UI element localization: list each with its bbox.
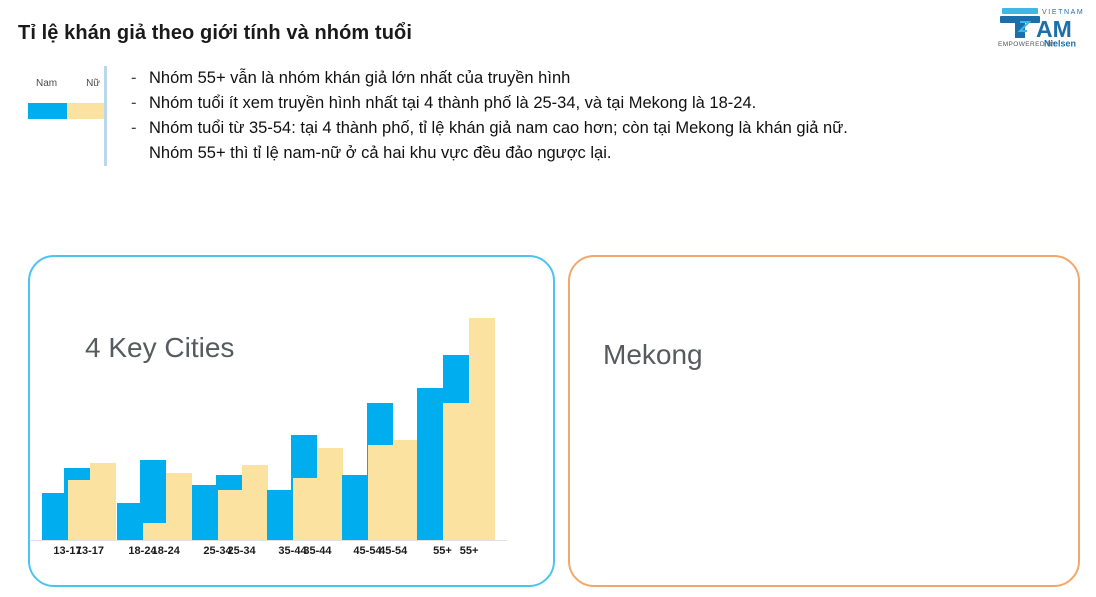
- bar-18-24-male: [117, 503, 143, 541]
- list-item: - Nhóm tuổi từ 35-54: tại 4 thành phố, t…: [107, 116, 1067, 141]
- bar-55+-female: [443, 403, 469, 541]
- bar-group-55+: [405, 290, 480, 540]
- x-tick-13-17: 13-17: [30, 545, 105, 557]
- page-title: Tỉ lệ khán giả theo giới tính và nhóm tu…: [18, 22, 412, 45]
- bullet-dash: -: [131, 91, 149, 116]
- bullet-text: Nhóm tuổi từ 35-54: tại 4 thành phố, tỉ …: [149, 116, 1067, 141]
- bar-13-17-male: [42, 493, 68, 541]
- chart-title-mekong: Mekong: [603, 339, 703, 371]
- bullet-text: Nhóm tuổi ít xem truyền hình nhất tại 4 …: [149, 91, 1067, 116]
- bar-group-35-44: [255, 290, 330, 540]
- svg-text:VIETNAM: VIETNAM: [1042, 9, 1084, 16]
- bar-35-44-female: [293, 478, 319, 541]
- bar-18-24-female: [143, 523, 169, 541]
- bar-45-54-male: [342, 475, 368, 540]
- bar-45-54-female: [368, 445, 394, 540]
- bar-35-44-male: [267, 490, 293, 540]
- bar-13-17-female: [68, 480, 94, 540]
- bullet-dash: -: [131, 116, 149, 141]
- bar-group-18-24: [105, 290, 180, 540]
- x-tick-18-24: 18-24: [105, 545, 180, 557]
- bar-group-45-54: [330, 290, 405, 540]
- insight-bullet-list: - Nhóm 55+ vẫn là nhóm khán giả lớn nhất…: [104, 66, 1067, 166]
- svg-text:Nielsen: Nielsen: [1044, 39, 1076, 49]
- x-tick-45-54: 45-54: [330, 545, 405, 557]
- x-tick-55+: 55+: [405, 545, 480, 557]
- bar-group-25-34: [180, 290, 255, 540]
- x-tick-25-34: 25-34: [180, 545, 255, 557]
- bar-group-13-17: [30, 290, 105, 540]
- list-item: - Nhóm 55+ vẫn là nhóm khán giả lớn nhất…: [107, 66, 1067, 91]
- vietnam-tam-logo: VIETNAM AM EMPOWERED BY Nielsen: [996, 4, 1088, 50]
- legend-swatch-male: [28, 103, 67, 119]
- bar-25-34-male: [192, 485, 218, 540]
- gender-legend: Nam Nữ: [28, 78, 106, 119]
- x-axis-mekong: 13-1718-2425-3435-4445-5455+: [30, 545, 480, 557]
- bullet-text: Nhóm 55+ vẫn là nhóm khán giả lớn nhất c…: [149, 66, 1067, 91]
- bullet-continuation-text: Nhóm 55+ thì tỉ lệ nam-nữ ở cả hai khu v…: [107, 141, 1067, 166]
- chart-card-mekong: [568, 255, 1080, 587]
- bar-chart-mekong: [30, 290, 480, 541]
- legend-label-male: Nam: [36, 78, 57, 89]
- bullet-dash: -: [131, 66, 149, 91]
- legend-swatch-female: [67, 103, 106, 119]
- legend-label-female: Nữ: [86, 78, 100, 89]
- bar-25-34-female: [218, 490, 244, 540]
- list-item: - Nhóm tuổi ít xem truyền hình nhất tại …: [107, 91, 1067, 116]
- x-tick-35-44: 35-44: [255, 545, 330, 557]
- bar-55+-male: [417, 388, 443, 541]
